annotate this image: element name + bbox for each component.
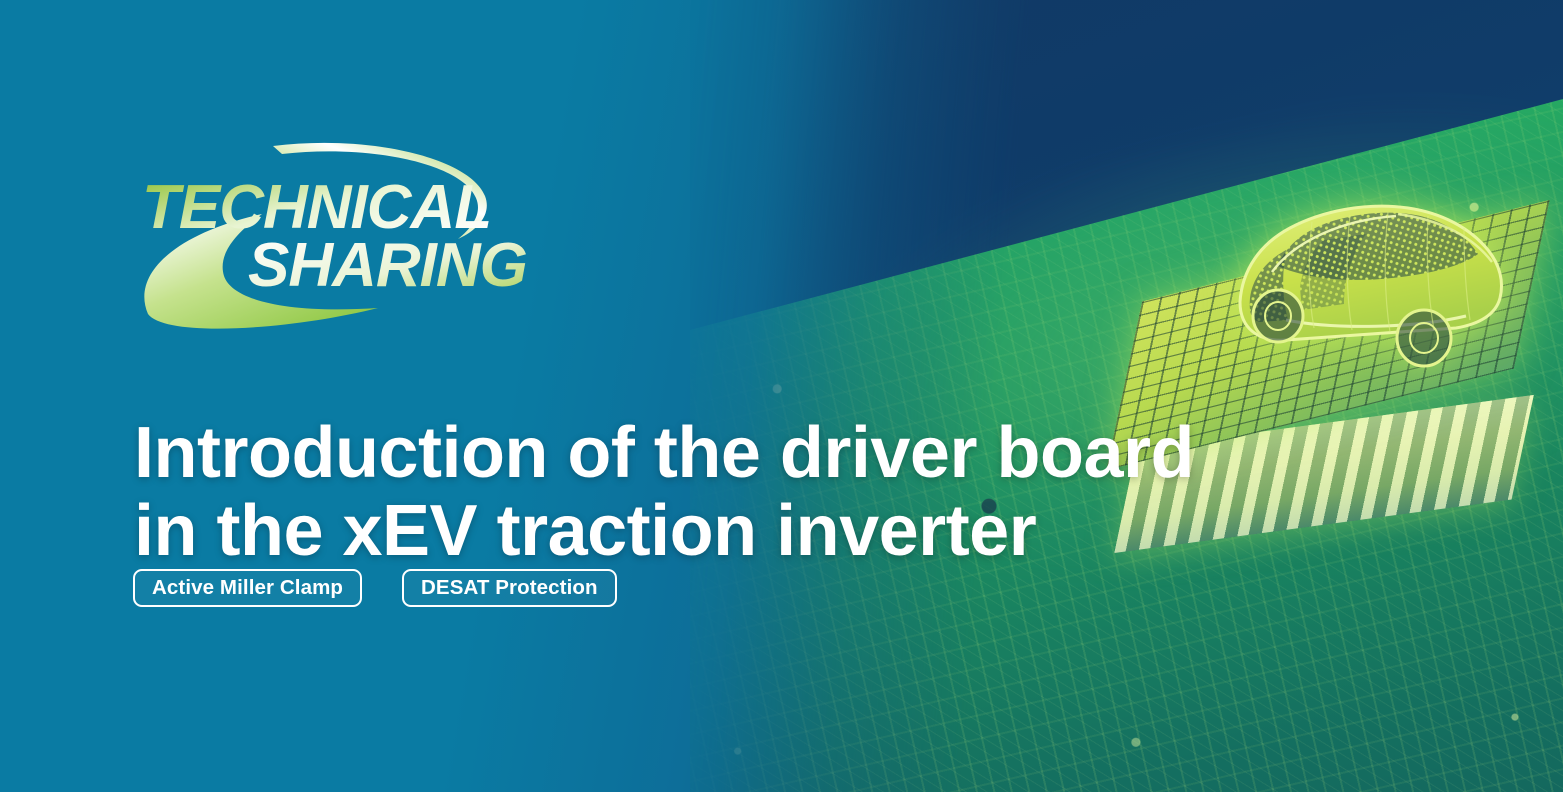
page-title: Introduction of the driver board in the … <box>134 414 1144 570</box>
artwork-region <box>690 0 1563 792</box>
artwork-fade-mask <box>690 0 1563 792</box>
technical-sharing-banner: TECHNICAL SHARING Introduction of the dr… <box>0 0 1563 792</box>
technical-sharing-logo: TECHNICAL SHARING <box>140 138 560 338</box>
page-title-line-1: Introduction of the driver board <box>134 414 1144 492</box>
wireframe-car-icon <box>1216 170 1516 385</box>
chip-package <box>1088 150 1563 580</box>
page-title-line-2: in the xEV traction inverter <box>134 492 1144 570</box>
logo-line-2: SHARING <box>248 231 527 300</box>
topic-tag-desat-protection[interactable]: DESAT Protection <box>402 569 617 607</box>
topic-tag-list: Active Miller Clamp DESAT Protection <box>133 569 617 607</box>
topic-tag-active-miller-clamp[interactable]: Active Miller Clamp <box>133 569 362 607</box>
